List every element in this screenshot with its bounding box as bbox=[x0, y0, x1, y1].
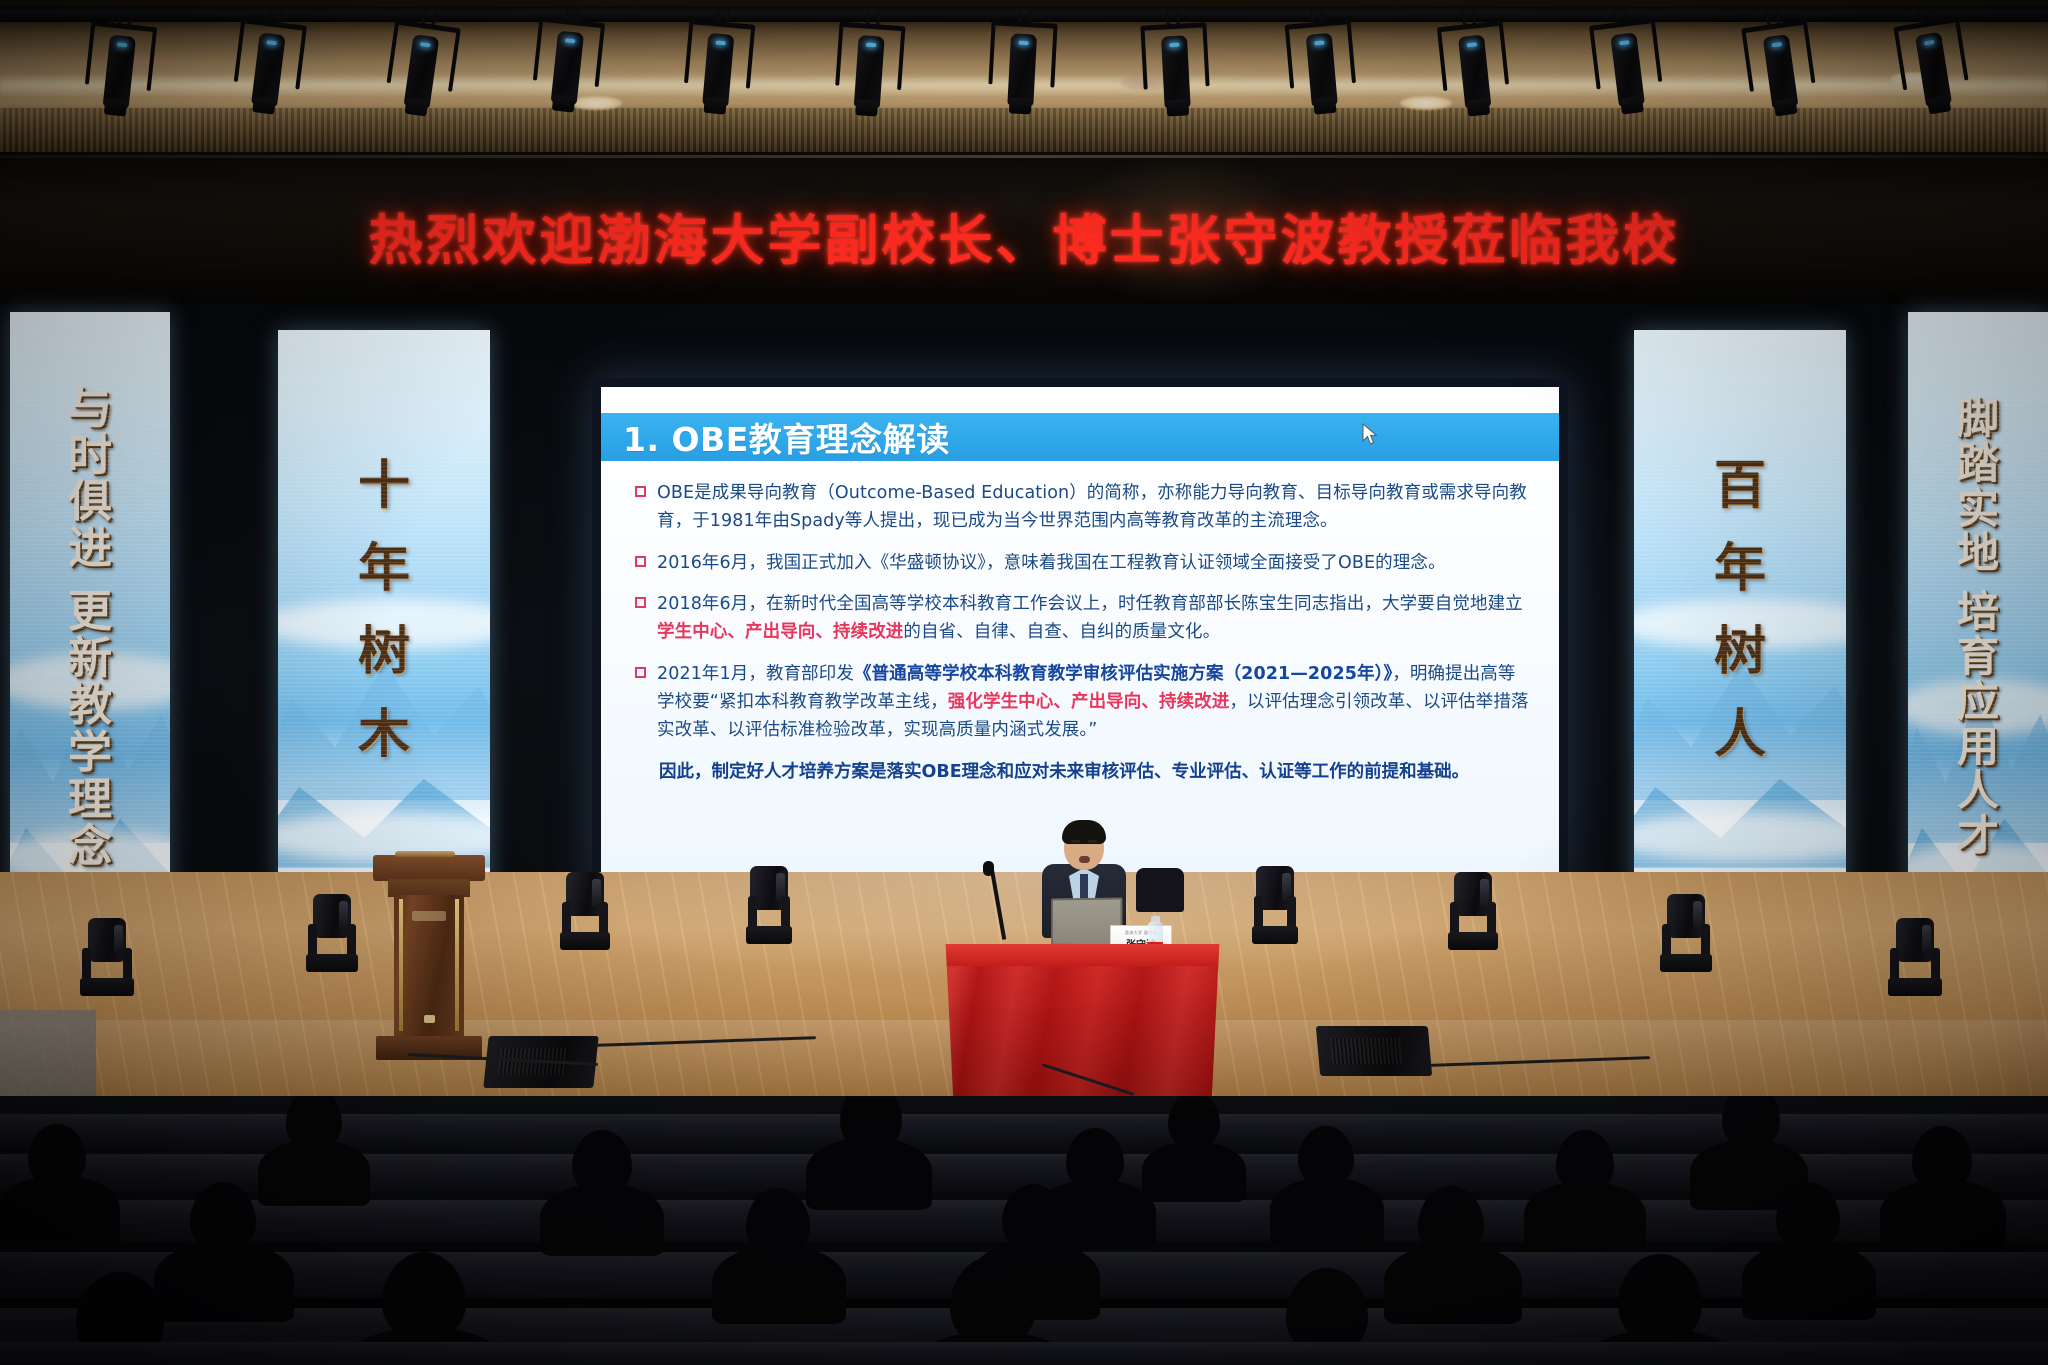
projection-screen: 1. OBE教育理念解读 OBE是成果导向教育（Outcome-Based Ed… bbox=[592, 378, 1568, 890]
calli-char: 进 bbox=[68, 527, 112, 572]
calli-char: 理 bbox=[68, 778, 112, 823]
led-panel-far-right: 脚 踏 实 地 培 育 应 用 人 才 bbox=[1908, 312, 2048, 944]
led-panel-far-left: 与 时 俱 进 更 新 教 学 理 念 bbox=[10, 312, 170, 944]
stage-spotlight-icon bbox=[529, 11, 606, 127]
calli-char: 树 bbox=[358, 625, 410, 678]
red-tablecloth bbox=[940, 944, 1225, 1120]
calli-char: 学 bbox=[68, 731, 112, 776]
moving-head-light-icon bbox=[306, 880, 358, 972]
stage-spotlight-icon bbox=[1740, 13, 1821, 131]
calli-char: 十 bbox=[358, 459, 410, 512]
calli-char: 人 bbox=[1957, 770, 1999, 813]
slide-conclusion: 因此，制定好人才培养方案是落实OBE理念和应对未来审核评估、专业评估、认证等工作… bbox=[659, 758, 1533, 786]
slide-bullet: OBE是成果导向教育（Outcome-Based Education）的简称，亦… bbox=[635, 479, 1533, 536]
moving-head-light-icon bbox=[1660, 880, 1712, 972]
calli-char: 应 bbox=[1957, 681, 1999, 724]
audience-head bbox=[1168, 1096, 1220, 1148]
square-bullet-icon bbox=[635, 486, 646, 497]
calli-char: 人 bbox=[1714, 708, 1766, 761]
speaker-table-group: 渤海大学 副校长 张守波 bbox=[940, 820, 1225, 1120]
stage-spotlight-icon bbox=[1436, 15, 1513, 131]
calli-char: 更 bbox=[68, 590, 112, 635]
audience-shoulders bbox=[1524, 1182, 1646, 1252]
gooseneck-microphone bbox=[990, 868, 1006, 940]
ceiling bbox=[0, 0, 2048, 152]
audience-shoulders bbox=[1270, 1178, 1384, 1246]
bullet-1-text: OBE是成果导向教育（Outcome-Based Education）的简称，亦… bbox=[657, 479, 1533, 536]
audience-shoulders bbox=[258, 1140, 370, 1206]
stage-spotlight-icon bbox=[229, 12, 308, 129]
calli-char: 新 bbox=[68, 637, 112, 682]
calli-char: 念 bbox=[68, 825, 112, 870]
slide-bullet: 2018年6月，在新时代全国高等学校本科教育工作会议上，时任教育部部长陈宝生同志… bbox=[635, 590, 1533, 647]
calli-char: 年 bbox=[1714, 542, 1766, 595]
audience-shoulders bbox=[540, 1184, 664, 1256]
calli-char: 树 bbox=[1714, 625, 1766, 678]
calli-char: 培 bbox=[1957, 591, 1999, 634]
calli-char: 时 bbox=[68, 434, 112, 479]
slide-bullet: 2016年6月，我国正式加入《华盛顿协议》，意味着我国在工程教育认证领域全面接受… bbox=[635, 549, 1533, 577]
calli-char: 百 bbox=[1714, 459, 1766, 512]
square-bullet-icon bbox=[635, 667, 646, 678]
moving-head-light-icon bbox=[1888, 900, 1942, 996]
moving-head-light-icon bbox=[560, 862, 610, 950]
audience-area bbox=[0, 1096, 2048, 1365]
moving-head-light-icon bbox=[1252, 860, 1298, 944]
calli-char: 实 bbox=[1957, 488, 1999, 531]
audience-shoulders bbox=[1384, 1244, 1522, 1324]
stage-spotlight-icon bbox=[1140, 16, 1212, 129]
moving-head-light-icon bbox=[1448, 862, 1498, 950]
stage-spotlight-icon bbox=[1284, 13, 1359, 128]
calligraphy-far-left: 与 时 俱 进 更 新 教 学 理 念 bbox=[10, 312, 170, 944]
chair-back bbox=[1136, 868, 1184, 912]
audience-shoulders bbox=[0, 1176, 120, 1246]
seat-row bbox=[0, 1342, 2048, 1365]
calli-char: 脚 bbox=[1957, 398, 1999, 441]
audience-shoulders bbox=[1742, 1242, 1876, 1320]
calli-char: 用 bbox=[1957, 726, 1999, 769]
calli-char: 年 bbox=[358, 542, 410, 595]
calli-char: 木 bbox=[358, 708, 410, 761]
audience-head bbox=[1776, 1182, 1840, 1250]
stage-spotlight-icon bbox=[81, 15, 158, 131]
calli-char: 俱 bbox=[68, 480, 112, 525]
calli-char: 育 bbox=[1957, 636, 1999, 679]
microphone-head-icon bbox=[983, 861, 994, 876]
stage-spotlight-icon bbox=[681, 13, 756, 128]
calligraphy-left: 十 年 树 木 bbox=[278, 330, 490, 890]
audience-shoulders bbox=[1142, 1142, 1246, 1202]
audience-shoulders bbox=[712, 1246, 846, 1324]
square-bullet-icon bbox=[635, 597, 646, 608]
calligraphy-far-right: 脚 踏 实 地 培 育 应 用 人 才 bbox=[1908, 312, 2048, 944]
audience-shoulders bbox=[154, 1242, 294, 1322]
slide-title-bar: 1. OBE教育理念解读 bbox=[601, 413, 1559, 461]
stage-spotlight-icon bbox=[1588, 12, 1667, 129]
bullet-4-text: 2021年1月，教育部印发《普通高等学校本科教育教学审核评估实施方案（2021—… bbox=[657, 660, 1533, 745]
bullet-3-text: 2018年6月，在新时代全国高等学校本科教育工作会议上，时任教育部部长陈宝生同志… bbox=[657, 590, 1533, 647]
powerpoint-slide: 1. OBE教育理念解读 OBE是成果导向教育（Outcome-Based Ed… bbox=[601, 387, 1559, 881]
stage-spotlight-icon bbox=[832, 16, 906, 130]
moving-head-light-icon bbox=[80, 900, 134, 996]
stage-spotlight-icon bbox=[986, 14, 1058, 127]
moving-head-light-icon bbox=[746, 860, 792, 944]
stage-side-tile bbox=[0, 1010, 96, 1100]
calli-char: 地 bbox=[1957, 532, 1999, 575]
led-panel-left: 十 年 树 木 bbox=[278, 330, 490, 890]
calli-char: 才 bbox=[1957, 815, 1999, 858]
slide-bullet: 2021年1月，教育部印发《普通高等学校本科教育教学审核评估实施方案（2021—… bbox=[635, 660, 1533, 745]
wooden-podium bbox=[380, 855, 478, 1060]
welcome-banner-text: 热烈欢迎渤海大学副校长、博士张守波教授莅临我校 bbox=[0, 196, 2048, 275]
led-panel-right: 百 年 树 人 bbox=[1634, 330, 1846, 890]
audience-head bbox=[1298, 1126, 1354, 1186]
calli-char: 教 bbox=[68, 684, 112, 729]
floor-monitor-speaker bbox=[1316, 1026, 1432, 1076]
auditorium-photo: 热烈欢迎渤海大学副校长、博士张守波教授莅临我校 与 时 俱 进 更 新 教 学 … bbox=[0, 0, 2048, 1365]
slide-title: 1. OBE教育理念解读 bbox=[623, 413, 950, 461]
slide-body: OBE是成果导向教育（Outcome-Based Education）的简称，亦… bbox=[635, 479, 1533, 786]
audience-shoulders bbox=[806, 1138, 932, 1210]
screen-surface: 1. OBE教育理念解读 OBE是成果导向教育（Outcome-Based Ed… bbox=[601, 387, 1559, 881]
calli-char: 踏 bbox=[1957, 443, 1999, 486]
bullet-2-text: 2016年6月，我国正式加入《华盛顿协议》，意味着我国在工程教育认证领域全面接受… bbox=[657, 549, 1533, 577]
calli-char: 与 bbox=[68, 387, 112, 432]
square-bullet-icon bbox=[635, 556, 646, 567]
audience-shoulders bbox=[1880, 1180, 2006, 1252]
calligraphy-right: 百 年 树 人 bbox=[1634, 330, 1846, 890]
